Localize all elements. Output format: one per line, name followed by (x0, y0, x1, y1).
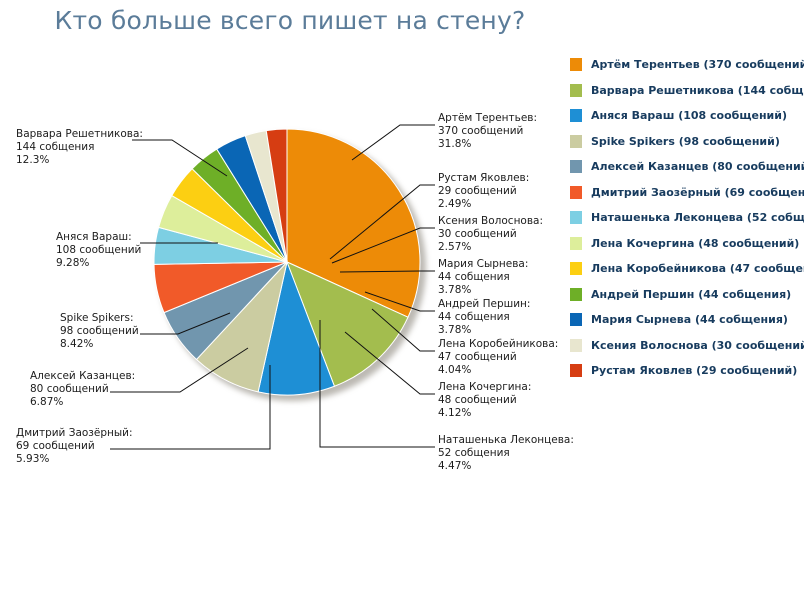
legend-item-label: Аняся Вараш (108 сообщений) (591, 109, 787, 122)
legend-item-label: Мария Сырнева (44 собщения) (591, 313, 788, 326)
callout-alexey-percent: 6.87% (30, 396, 135, 409)
legend-item[interactable]: Лена Кочергина (48 сообщений) (570, 231, 804, 257)
pie-slices (153, 128, 425, 400)
callout-varvara-value: 144 собщения (16, 141, 143, 154)
legend-item[interactable]: Аняся Вараш (108 сообщений) (570, 103, 804, 129)
callout-dmitriy-name: Дмитрий Заозёрный: (16, 427, 133, 440)
page-title: Кто больше всего пишет на стену? (0, 6, 580, 35)
legend-color-swatch (570, 160, 582, 173)
legend-item-label: Дмитрий Заозёрный (69 сообщений) (591, 186, 804, 199)
legend-item[interactable]: Артём Терентьев (370 сообщений) (570, 52, 804, 78)
legend-color-swatch (570, 211, 582, 224)
callout-artem: Артём Терентьев: 370 сообщений 31.8% (438, 112, 537, 152)
legend-item-label: Ксения Волоснова (30 сообщений) (591, 339, 804, 352)
callout-korobeynikova-name: Лена Коробейникова: (438, 338, 558, 351)
callout-spike: Spike Spikers: 98 сообщений 8.42% (60, 312, 139, 352)
legend-item[interactable]: Spike Spikers (98 сообщений) (570, 129, 804, 155)
callout-alexey-name: Алексей Казанцев: (30, 370, 135, 383)
callout-anyasya: Аняся Вараш: 108 сообщений 9.28% (56, 231, 141, 271)
legend-color-swatch (570, 84, 582, 97)
callout-artem-percent: 31.8% (438, 138, 537, 151)
chart-legend: Артём Терентьев (370 сообщений)Варвара Р… (570, 52, 804, 384)
legend-item-label: Варвара Решетникова (144 собщения) (591, 84, 804, 97)
legend-color-swatch (570, 237, 582, 250)
callout-mariya-value: 44 собщения (438, 271, 528, 284)
callout-kochergina-percent: 4.12% (438, 407, 531, 420)
pie-chart (153, 128, 425, 400)
callout-dmitriy: Дмитрий Заозёрный: 69 сообщений 5.93% (16, 427, 133, 467)
callout-anyasya-name: Аняся Вараш: (56, 231, 141, 244)
legend-color-swatch (570, 339, 582, 352)
legend-color-swatch (570, 186, 582, 199)
callout-natashenka-name: Наташенька Леконцева: (438, 434, 574, 447)
legend-item-label: Spike Spikers (98 сообщений) (591, 135, 780, 148)
legend-color-swatch (570, 135, 582, 148)
callout-natashenka-value: 52 собщения (438, 447, 574, 460)
legend-item[interactable]: Дмитрий Заозёрный (69 сообщений) (570, 180, 804, 206)
legend-color-swatch (570, 262, 582, 275)
legend-color-swatch (570, 364, 582, 377)
callout-rustam: Рустам Яковлев: 29 сообщений 2.49% (438, 172, 529, 212)
callout-mariya-percent: 3.78% (438, 284, 528, 297)
legend-item-label: Андрей Першин (44 собщения) (591, 288, 791, 301)
callout-dmitriy-value: 69 сообщений (16, 440, 133, 453)
legend-color-swatch (570, 288, 582, 301)
callout-mariya: Мария Сырнева: 44 собщения 3.78% (438, 258, 528, 298)
callout-spike-percent: 8.42% (60, 338, 139, 351)
callout-rustam-value: 29 сообщений (438, 185, 529, 198)
callout-kseniya-percent: 2.57% (438, 241, 543, 254)
legend-color-swatch (570, 58, 582, 71)
legend-item[interactable]: Ксения Волоснова (30 сообщений) (570, 333, 804, 359)
callout-kochergina-value: 48 сообщений (438, 394, 531, 407)
callout-artem-value: 370 сообщений (438, 125, 537, 138)
callout-varvara-percent: 12.3% (16, 154, 143, 167)
callout-andrey-name: Андрей Першин: (438, 298, 530, 311)
callout-anyasya-value: 108 сообщений (56, 244, 141, 257)
legend-color-swatch (570, 313, 582, 326)
callout-kochergina: Лена Кочергина: 48 сообщений 4.12% (438, 381, 531, 421)
callout-kseniya-name: Ксения Волоснова: (438, 215, 543, 228)
callout-spike-value: 98 сообщений (60, 325, 139, 338)
legend-item-label: Артём Терентьев (370 сообщений) (591, 58, 804, 71)
callout-natashenka: Наташенька Леконцева: 52 собщения 4.47% (438, 434, 574, 474)
legend-item[interactable]: Наташенька Леконцева (52 собщения) (570, 205, 804, 231)
callout-kseniya: Ксения Волоснова: 30 сообщений 2.57% (438, 215, 543, 255)
callout-mariya-name: Мария Сырнева: (438, 258, 528, 271)
legend-item-label: Алексей Казанцев (80 сообщений) (591, 160, 804, 173)
legend-item-label: Лена Коробейникова (47 сообщений) (591, 262, 804, 275)
callout-kochergina-name: Лена Кочергина: (438, 381, 531, 394)
callout-andrey-percent: 3.78% (438, 324, 530, 337)
callout-varvara: Варвара Решетникова: 144 собщения 12.3% (16, 128, 143, 168)
callout-korobeynikova-value: 47 сообщений (438, 351, 558, 364)
callout-korobeynikova: Лена Коробейникова: 47 сообщений 4.04% (438, 338, 558, 378)
legend-item[interactable]: Рустам Яковлев (29 сообщений) (570, 358, 804, 384)
legend-item[interactable]: Алексей Казанцев (80 сообщений) (570, 154, 804, 180)
callout-rustam-name: Рустам Яковлев: (438, 172, 529, 185)
legend-color-swatch (570, 109, 582, 122)
callout-rustam-percent: 2.49% (438, 198, 529, 211)
callout-varvara-name: Варвара Решетникова: (16, 128, 143, 141)
callout-alexey: Алексей Казанцев: 80 сообщений 6.87% (30, 370, 135, 410)
callout-alexey-value: 80 сообщений (30, 383, 135, 396)
callout-natashenka-percent: 4.47% (438, 460, 574, 473)
legend-item[interactable]: Мария Сырнева (44 собщения) (570, 307, 804, 333)
callout-andrey: Андрей Першин: 44 собщения 3.78% (438, 298, 530, 338)
legend-item-label: Лена Кочергина (48 сообщений) (591, 237, 799, 250)
callout-artem-name: Артём Терентьев: (438, 112, 537, 125)
legend-item[interactable]: Лена Коробейникова (47 сообщений) (570, 256, 804, 282)
callout-spike-name: Spike Spikers: (60, 312, 139, 325)
callout-korobeynikova-percent: 4.04% (438, 364, 558, 377)
callout-kseniya-value: 30 сообщений (438, 228, 543, 241)
legend-item[interactable]: Варвара Решетникова (144 собщения) (570, 78, 804, 104)
callout-anyasya-percent: 9.28% (56, 257, 141, 270)
legend-item-label: Наташенька Леконцева (52 собщения) (591, 211, 804, 224)
callout-dmitriy-percent: 5.93% (16, 453, 133, 466)
legend-item[interactable]: Андрей Першин (44 собщения) (570, 282, 804, 308)
callout-andrey-value: 44 собщения (438, 311, 530, 324)
legend-item-label: Рустам Яковлев (29 сообщений) (591, 364, 797, 377)
